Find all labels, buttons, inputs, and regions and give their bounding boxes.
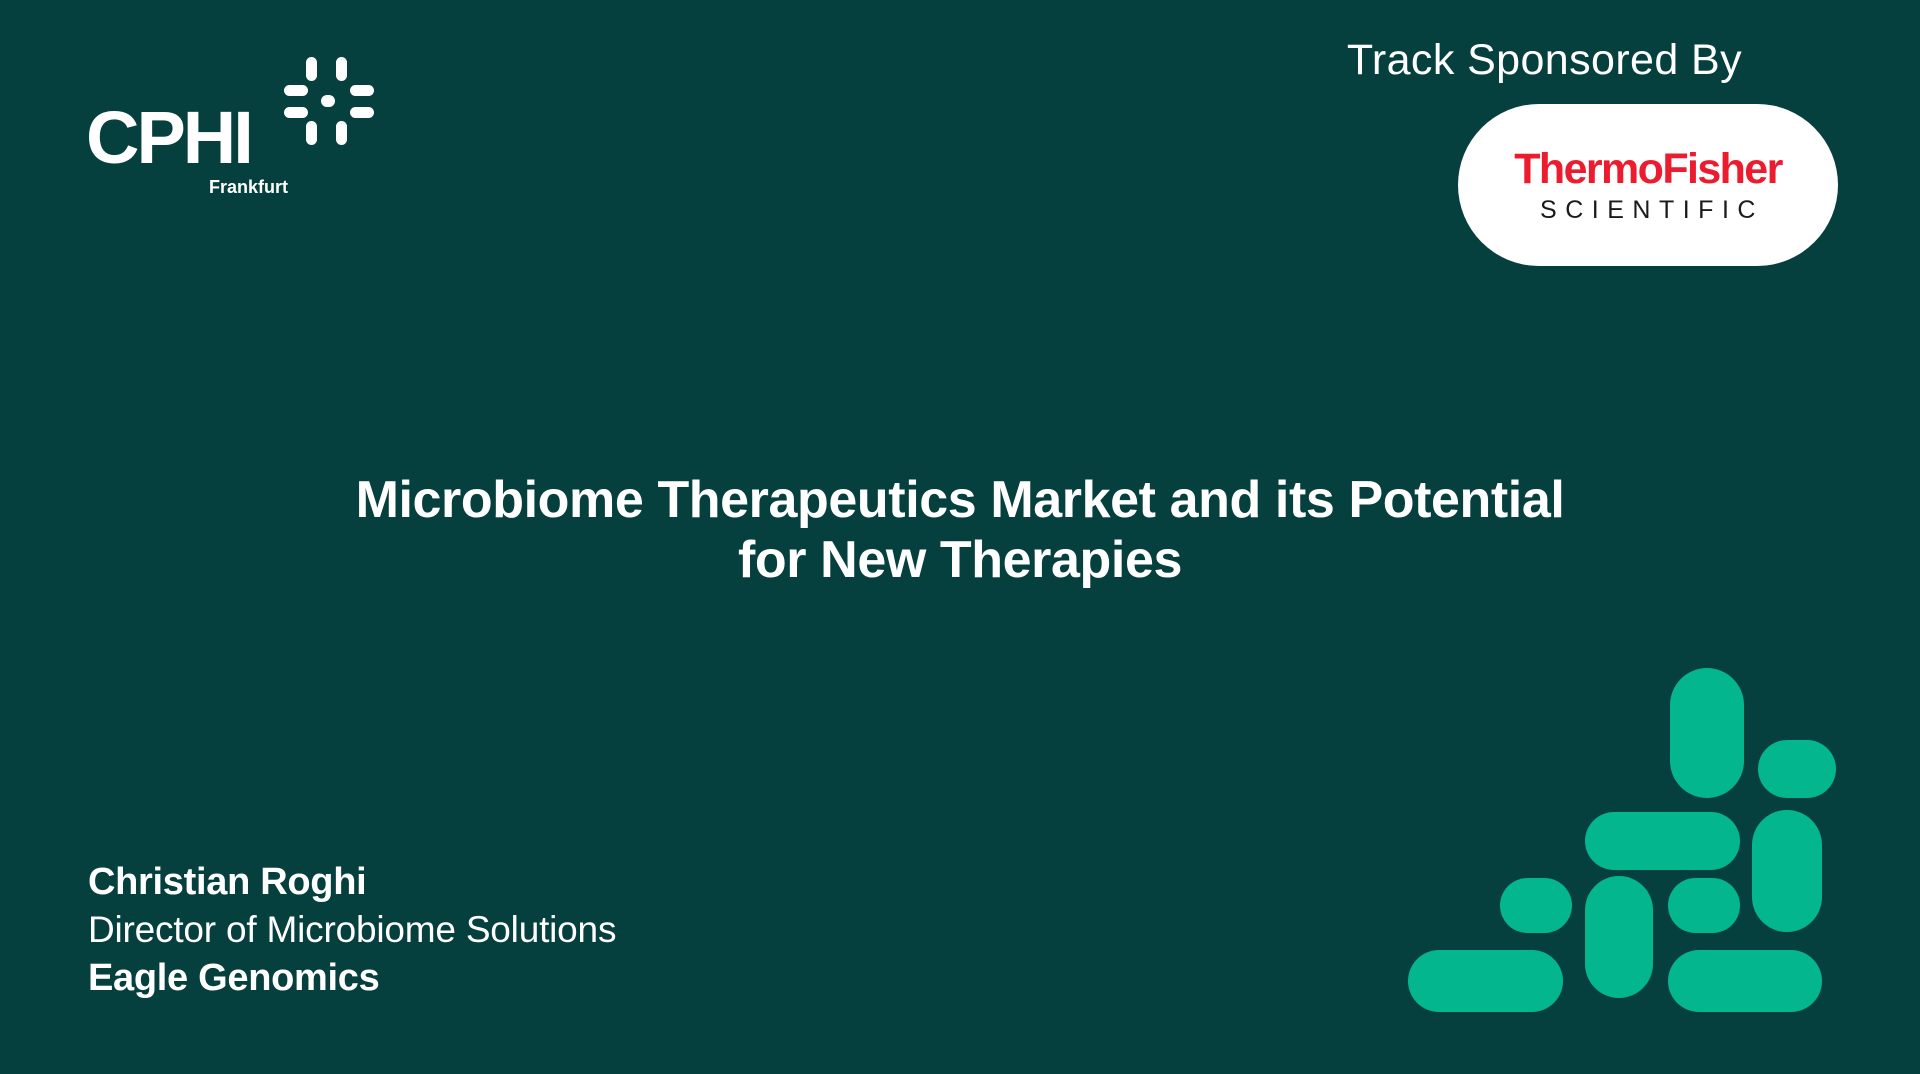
pill-tall-pill-top — [1670, 668, 1744, 798]
track-sponsored-by-label: Track Sponsored By — [1347, 36, 1742, 85]
title-slide: CPHI Frankfurt Track Sponsored By Thermo… — [0, 0, 1920, 1074]
pill-wide-pill-mid — [1585, 812, 1740, 870]
speaker-name: Christian Roghi — [88, 858, 616, 906]
pill-oval-top-right — [1758, 740, 1836, 798]
thermo-fisher-scientific-subtext: SCIENTIFIC — [1532, 198, 1764, 223]
thermo-fisher-wordmark: ThermoFisher — [1514, 148, 1782, 191]
title-line-1: Microbiome Therapeutics Market and its P… — [0, 470, 1920, 530]
pill-wide-pill-bottom-left — [1408, 950, 1563, 1012]
pill-tall-pill-center — [1585, 876, 1653, 998]
speaker-organisation: Eagle Genomics — [88, 954, 616, 1002]
cphi-logo: CPHI Frankfurt — [86, 55, 376, 205]
title-line-2: for New Therapies — [0, 530, 1920, 590]
pill-tall-pill-right — [1752, 810, 1822, 932]
cphi-radial-dots-icon — [282, 55, 374, 147]
page-title: Microbiome Therapeutics Market and its P… — [0, 470, 1920, 590]
thermo-fisher-logo-inner: ThermoFisher SCIENTIFIC — [1458, 104, 1838, 266]
thermo-fisher-logo: ThermoFisher SCIENTIFIC — [1458, 104, 1838, 266]
eagle-genomics-pill-mark — [1400, 660, 1850, 1035]
speaker-role: Director of Microbiome Solutions — [88, 906, 616, 954]
pill-oval-left-mid — [1500, 878, 1572, 933]
pill-oval-center-right — [1668, 878, 1740, 933]
speaker-info: Christian Roghi Director of Microbiome S… — [88, 858, 616, 1002]
cphi-city-label: Frankfurt — [86, 177, 288, 198]
cphi-wordmark: CPHI — [86, 101, 251, 175]
pill-wide-pill-bottom-right — [1668, 950, 1822, 1012]
